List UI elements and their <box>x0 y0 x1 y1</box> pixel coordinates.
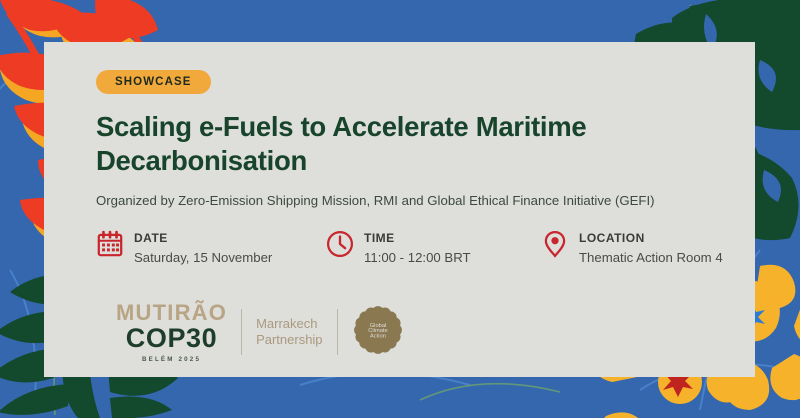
detail-time-text: TIME 11:00 - 12:00 BRT <box>364 229 471 267</box>
content-card: SHOWCASE Scaling e-Fuels to Accelerate M… <box>44 42 755 377</box>
logo-divider-left <box>241 309 242 355</box>
detail-date: DATE Saturday, 15 November <box>96 229 326 267</box>
global-climate-action-emblem: Global Climate Action <box>352 304 404 361</box>
cop30-logo-belem: BELÉM 2025 <box>116 357 227 363</box>
page-title: Scaling e-Fuels to Accelerate Maritime D… <box>96 110 696 178</box>
showcase-badge: SHOWCASE <box>96 70 211 94</box>
emblem-line-3: Action <box>370 333 386 339</box>
detail-location-text: LOCATION Thematic Action Room 4 <box>579 229 723 267</box>
detail-time: TIME 11:00 - 12:00 BRT <box>326 229 541 267</box>
cop30-logo-mutirao: MUTIRÃO <box>116 302 227 324</box>
event-details: DATE Saturday, 15 November TIME 11:0 <box>96 229 737 267</box>
detail-time-value: 11:00 - 12:00 BRT <box>364 249 471 267</box>
logo-strip: MUTIRÃO COP30 BELÉM 2025 Marrakech Partn… <box>116 302 404 363</box>
map-pin-icon <box>541 229 569 263</box>
marrakech-line-1: Marrakech <box>256 316 322 332</box>
detail-location-value: Thematic Action Room 4 <box>579 249 723 267</box>
event-poster: SHOWCASE Scaling e-Fuels to Accelerate M… <box>0 0 800 418</box>
detail-location: LOCATION Thematic Action Room 4 <box>541 229 737 267</box>
cop30-logo-cop30: COP30 <box>116 325 227 352</box>
detail-date-text: DATE Saturday, 15 November <box>134 229 272 267</box>
detail-date-label: DATE <box>134 231 168 245</box>
logo-divider-right <box>337 309 338 355</box>
detail-date-value: Saturday, 15 November <box>134 249 272 267</box>
cop30-logo: MUTIRÃO COP30 BELÉM 2025 <box>116 302 227 363</box>
detail-location-label: LOCATION <box>579 231 645 245</box>
detail-time-label: TIME <box>364 231 395 245</box>
organizers-subtitle: Organized by Zero-Emission Shipping Miss… <box>96 192 737 209</box>
card-content: SHOWCASE Scaling e-Fuels to Accelerate M… <box>96 70 737 267</box>
marrakech-line-2: Partnership <box>256 332 322 348</box>
marrakech-partnership-logo: Marrakech Partnership <box>256 316 322 349</box>
global-climate-action-rosette-icon: Global Climate Action <box>352 304 404 356</box>
calendar-icon <box>96 229 124 263</box>
clock-icon <box>326 229 354 263</box>
